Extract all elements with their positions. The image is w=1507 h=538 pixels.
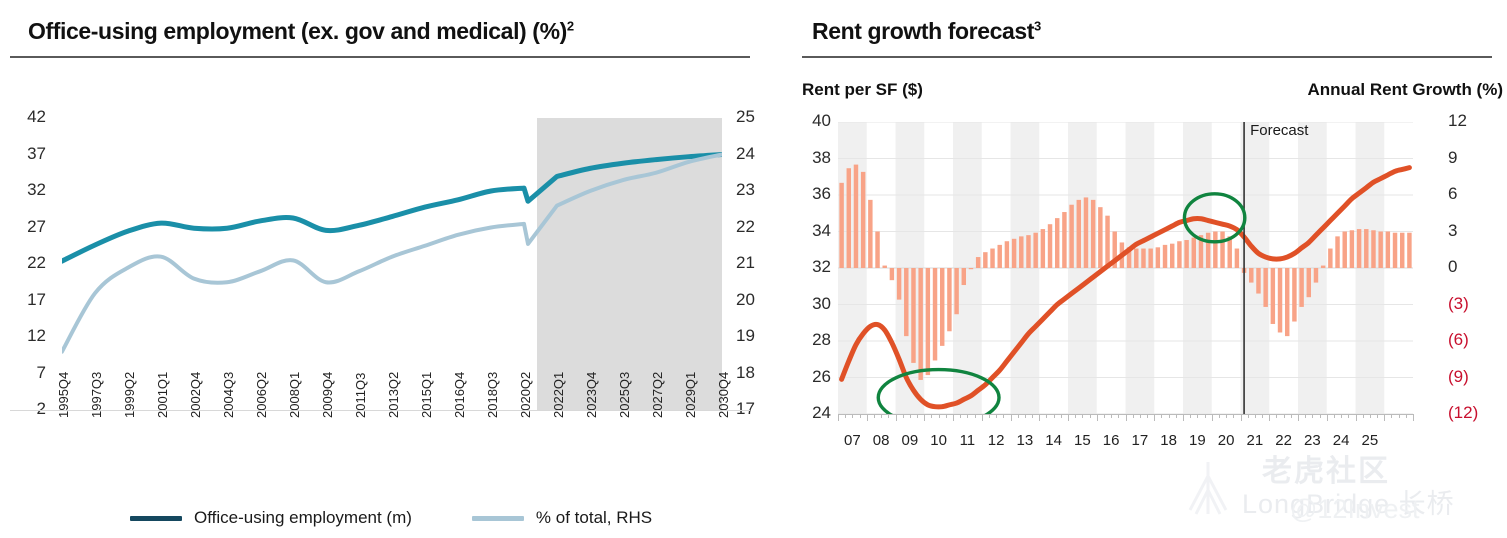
- right-y2-tick: (3): [1448, 294, 1469, 314]
- rent-growth-bar: [976, 257, 980, 268]
- right-chart-axis-tick: [1363, 414, 1364, 418]
- right-chart-axis-tick: [838, 414, 839, 421]
- right-chart-axis-tick: [1054, 414, 1055, 418]
- right-x-tick: 20: [1213, 432, 1239, 449]
- right-chart-axis-tick: [1384, 414, 1385, 421]
- right-x-tick: 10: [926, 432, 952, 449]
- right-chart-axis-tick: [1406, 414, 1407, 418]
- left-y-tick: 7: [0, 363, 46, 383]
- rent-growth-bar: [1342, 232, 1346, 269]
- rent-growth-bar: [1170, 244, 1174, 268]
- left-panel-title: Office-using employment (ex. gov and med…: [28, 18, 574, 45]
- rent-growth-bar: [1371, 230, 1375, 268]
- right-x-tick: 25: [1357, 432, 1383, 449]
- rent-growth-bar: [1041, 229, 1045, 268]
- right-chart-axis-tick: [881, 414, 882, 418]
- left-y2-tick: 19: [736, 326, 755, 346]
- right-chart-axis-tick: [1154, 414, 1155, 421]
- right-chart-axis-tick: [1169, 414, 1170, 418]
- rent-growth-bar: [1105, 216, 1109, 268]
- right-x-tick: 08: [868, 432, 894, 449]
- rent-growth-bar: [1077, 200, 1081, 268]
- office-employment-panel: Office-using employment (ex. gov and med…: [0, 0, 770, 538]
- left-title-divider: [10, 56, 750, 58]
- right-chart-axis-tick: [860, 414, 861, 418]
- right-chart-axis-tick: [845, 414, 846, 418]
- left-y-tick: 17: [0, 290, 46, 310]
- right-chart-axis-tick: [1305, 414, 1306, 418]
- rent-growth-bar: [1350, 230, 1354, 268]
- right-chart-axis-tick: [1219, 414, 1220, 418]
- rent-growth-bar: [897, 268, 901, 300]
- rent-growth-bar: [847, 168, 851, 268]
- right-chart-axis-tick: [1370, 414, 1371, 418]
- rent-growth-bar: [1019, 236, 1023, 268]
- rent-growth-bar: [1033, 233, 1037, 268]
- rent-growth-bar: [983, 252, 987, 268]
- rent-growth-bar: [1407, 233, 1411, 268]
- right-chart-axis-tick: [1291, 414, 1292, 418]
- rent-growth-bar: [933, 268, 937, 360]
- right-chart-axis-tick: [1327, 414, 1328, 421]
- right-chart-axis-tick: [1061, 414, 1062, 418]
- left-y-tick: 37: [0, 144, 46, 164]
- right-chart-axis-tick: [917, 414, 918, 418]
- right-x-tick: 11: [954, 432, 980, 449]
- rent-growth-bar: [854, 165, 858, 268]
- rent-growth-bar: [1235, 249, 1239, 268]
- rent-growth-bar: [1026, 235, 1030, 268]
- rent-growth-bar: [1148, 249, 1152, 268]
- right-chart-right-axis-title: Annual Rent Growth (%): [1308, 80, 1503, 100]
- right-title-divider: [802, 56, 1492, 58]
- rent-growth-bar: [875, 232, 879, 269]
- right-chart-axis-tick: [953, 414, 954, 421]
- rent-growth-bar: [1299, 268, 1303, 307]
- right-y2-tick: 0: [1448, 257, 1457, 277]
- legend-swatch-percent-of-total: [472, 516, 524, 521]
- right-chart-axis-tick: [989, 414, 990, 418]
- right-chart-axis-tick: [1075, 414, 1076, 418]
- right-chart-axis-tick: [1104, 414, 1105, 418]
- right-chart-axis-tick: [1003, 414, 1004, 418]
- legend-item-percent-of-total: % of total, RHS: [472, 508, 652, 528]
- right-chart-axis-tick: [1126, 414, 1127, 421]
- rent-growth-plot: [838, 122, 1413, 414]
- rent-growth-bar: [1220, 232, 1224, 269]
- rent-growth-bar: [1084, 197, 1088, 268]
- right-chart-axis-tick: [1205, 414, 1206, 418]
- series-office-using-employment: [62, 155, 722, 262]
- right-chart-axis-tick: [960, 414, 961, 418]
- right-chart-axis-tick: [1262, 414, 1263, 418]
- right-x-tick: 19: [1184, 432, 1210, 449]
- right-chart-axis-tick: [1161, 414, 1162, 418]
- right-chart-axis-tick: [939, 414, 940, 418]
- right-chart-axis-tick: [867, 414, 868, 421]
- rent-growth-bar: [1184, 240, 1188, 268]
- rent-growth-bar: [969, 268, 973, 269]
- left-y-tick: 42: [0, 107, 46, 127]
- right-chart-axis-tick: [1025, 414, 1026, 418]
- rent-growth-bar: [868, 200, 872, 268]
- rent-growth-bar: [918, 268, 922, 380]
- rent-growth-bar: [1192, 238, 1196, 268]
- left-y2-tick: 22: [736, 217, 755, 237]
- right-x-tick: 12: [983, 432, 1009, 449]
- right-chart-axis-tick: [924, 414, 925, 421]
- rent-growth-bar: [1141, 249, 1145, 268]
- right-chart-axis-tick: [852, 414, 853, 418]
- left-chart-legend: Office-using employment (m) % of total, …: [130, 508, 652, 528]
- right-y-tick: 38: [795, 148, 831, 168]
- right-chart-axis-tick: [1190, 414, 1191, 418]
- right-y2-tick: 12: [1448, 111, 1467, 131]
- right-chart-axis-tick: [1226, 414, 1227, 418]
- left-y2-tick: 20: [736, 290, 755, 310]
- rent-growth-bar: [1156, 247, 1160, 268]
- rent-growth-bar: [1213, 232, 1217, 269]
- rent-growth-bar: [911, 268, 915, 363]
- right-x-tick: 13: [1012, 432, 1038, 449]
- right-y2-tick: (12): [1448, 403, 1478, 423]
- rent-growth-bar: [1256, 268, 1260, 294]
- right-chart-axis-tick: [1011, 414, 1012, 421]
- right-panel-title-footnote: 3: [1034, 18, 1041, 33]
- right-chart-axis-tick: [1341, 414, 1342, 418]
- right-chart-axis-tick: [946, 414, 947, 418]
- right-y-tick: 40: [795, 111, 831, 131]
- right-chart-axis-tick: [1197, 414, 1198, 418]
- rent-growth-bar: [1069, 205, 1073, 268]
- rent-growth-bar: [1357, 229, 1361, 268]
- rent-growth-bar: [1263, 268, 1267, 307]
- left-y2-tick: 24: [736, 144, 755, 164]
- legend-item-office-using-employment: Office-using employment (m): [130, 508, 412, 528]
- right-chart-axis-tick: [1082, 414, 1083, 418]
- right-chart-left-axis-title: Rent per SF ($): [802, 80, 923, 100]
- left-panel-title-footnote: 2: [567, 18, 574, 33]
- right-chart-axis-tick: [1118, 414, 1119, 418]
- rent-growth-bar: [1393, 233, 1397, 268]
- rent-growth-bar: [1249, 268, 1253, 283]
- right-chart-axis-tick: [1046, 414, 1047, 418]
- rent-growth-bar: [1285, 268, 1289, 336]
- rent-growth-bar: [1177, 241, 1181, 268]
- rent-growth-bar: [1134, 249, 1138, 268]
- right-chart-axis-tick: [1348, 414, 1349, 418]
- right-chart-axis-tick: [1039, 414, 1040, 421]
- right-x-tick: 07: [839, 432, 865, 449]
- right-chart-axis-tick: [888, 414, 889, 418]
- right-chart-axis-tick: [1241, 414, 1242, 421]
- rent-growth-bar: [926, 268, 930, 375]
- right-chart-axis-tick: [1276, 414, 1277, 418]
- legend-label-office-using-employment: Office-using employment (m): [194, 508, 412, 528]
- right-x-tick: 15: [1069, 432, 1095, 449]
- rent-growth-bar: [954, 268, 958, 314]
- left-y2-tick: 17: [736, 399, 755, 419]
- right-chart-axis-tick: [1133, 414, 1134, 418]
- right-chart-axis-tick: [1090, 414, 1091, 418]
- rent-growth-bar: [1271, 268, 1275, 324]
- rent-growth-bar: [1307, 268, 1311, 297]
- right-y2-tick: (9): [1448, 367, 1469, 387]
- legend-swatch-office-using-employment: [130, 516, 182, 521]
- right-chart-axis-tick: [1097, 414, 1098, 421]
- left-y-tick: 2: [0, 399, 46, 419]
- rent-growth-bar: [1292, 268, 1296, 322]
- right-chart-axis-tick: [1140, 414, 1141, 418]
- right-chart-axis-tick: [1147, 414, 1148, 418]
- rent-growth-bar: [861, 172, 865, 268]
- right-chart-axis-tick: [1413, 414, 1414, 421]
- rent-growth-bar: [1378, 232, 1382, 269]
- rent-growth-bar: [1012, 239, 1016, 268]
- right-chart-axis-tick: [967, 414, 968, 418]
- rent-growth-bar: [890, 268, 894, 280]
- rent-growth-bar: [1163, 245, 1167, 268]
- right-chart-axis-tick: [1334, 414, 1335, 418]
- right-x-tick: 24: [1328, 432, 1354, 449]
- right-chart-axis-tick: [975, 414, 976, 418]
- rent-growth-bar: [1098, 207, 1102, 268]
- right-chart-axis-tick: [1320, 414, 1321, 418]
- right-x-tick: 21: [1242, 432, 1268, 449]
- rent-growth-bar: [1321, 266, 1325, 268]
- right-x-tick: 14: [1041, 432, 1067, 449]
- right-chart-axis-tick: [1284, 414, 1285, 418]
- left-y2-tick: 18: [736, 363, 755, 383]
- right-y-tick: 28: [795, 330, 831, 350]
- right-x-tick: 16: [1098, 432, 1124, 449]
- right-chart-axis-tick: [1212, 414, 1213, 421]
- forecast-label: Forecast: [1250, 122, 1308, 139]
- right-x-tick: 18: [1156, 432, 1182, 449]
- right-y-tick: 30: [795, 294, 831, 314]
- left-y2-tick: 21: [736, 253, 755, 273]
- right-y-tick: 32: [795, 257, 831, 277]
- right-chart-axis-tick: [982, 414, 983, 421]
- right-x-tick: 17: [1127, 432, 1153, 449]
- rent-growth-bar: [1278, 268, 1282, 332]
- right-panel-title: Rent growth forecast3: [812, 18, 1041, 45]
- rent-growth-bar: [1314, 268, 1318, 283]
- rent-growth-bar: [1335, 236, 1339, 268]
- rent-growth-bar: [990, 249, 994, 268]
- left-y2-tick: 25: [736, 107, 755, 127]
- rent-growth-bar: [1055, 218, 1059, 268]
- right-chart-axis-tick: [1248, 414, 1249, 418]
- rent-growth-bar: [947, 268, 951, 331]
- rent-growth-bar: [839, 183, 843, 268]
- right-chart-axis-tick: [1233, 414, 1234, 418]
- right-chart-axis-tick: [1111, 414, 1112, 418]
- left-panel-title-text: Office-using employment (ex. gov and med…: [28, 18, 567, 44]
- right-x-tick: 22: [1271, 432, 1297, 449]
- right-chart-axis-tick: [1391, 414, 1392, 418]
- rent-growth-bar: [1048, 224, 1052, 268]
- right-x-tick: 09: [897, 432, 923, 449]
- rent-growth-bar: [1206, 233, 1210, 268]
- right-y2-tick: 6: [1448, 184, 1457, 204]
- right-chart-axis-tick: [874, 414, 875, 418]
- right-chart-axis-tick: [910, 414, 911, 418]
- left-y-tick: 27: [0, 217, 46, 237]
- right-chart-axis-tick: [1298, 414, 1299, 421]
- right-chart-axis-tick: [1269, 414, 1270, 421]
- rent-growth-bar: [1328, 249, 1332, 268]
- right-y2-tick: 9: [1448, 148, 1457, 168]
- rent-growth-bar: [1005, 241, 1009, 268]
- right-y2-tick: 3: [1448, 221, 1457, 241]
- right-chart-axis-tick: [903, 414, 904, 418]
- rent-growth-bar: [1400, 233, 1404, 268]
- right-chart-axis-tick: [931, 414, 932, 418]
- right-chart-axis-tick: [1356, 414, 1357, 421]
- right-y-tick: 24: [795, 403, 831, 423]
- right-chart-axis-tick: [1255, 414, 1256, 418]
- right-chart-axis-tick: [996, 414, 997, 418]
- rent-growth-bar: [882, 266, 886, 268]
- right-chart-axis-tick: [896, 414, 897, 421]
- right-chart-axis-tick: [1183, 414, 1184, 421]
- right-chart-axis-tick: [1032, 414, 1033, 418]
- office-employment-plot: [62, 118, 722, 410]
- right-chart-axis-tick: [1312, 414, 1313, 418]
- right-x-tick: 23: [1299, 432, 1325, 449]
- right-chart-axis-tick: [1399, 414, 1400, 418]
- left-y-tick: 22: [0, 253, 46, 273]
- rent-growth-bar: [1062, 212, 1066, 268]
- right-y-tick: 26: [795, 367, 831, 387]
- rent-growth-bar: [1386, 232, 1390, 269]
- rent-growth-bar: [962, 268, 966, 285]
- rent-growth-bar: [997, 245, 1001, 268]
- legend-label-percent-of-total: % of total, RHS: [536, 508, 652, 528]
- right-chart-axis-tick: [1176, 414, 1177, 418]
- rent-growth-bar: [1091, 200, 1095, 268]
- right-chart-axis-tick: [1018, 414, 1019, 418]
- series-percent-of-total: [62, 155, 722, 352]
- left-y-tick: 12: [0, 326, 46, 346]
- right-chart-axis-tick: [1377, 414, 1378, 418]
- right-y-tick: 34: [795, 221, 831, 241]
- rent-growth-bar: [1364, 229, 1368, 268]
- left-y-tick: 32: [0, 180, 46, 200]
- left-chart-baseline: [10, 410, 750, 411]
- right-y-tick: 36: [795, 184, 831, 204]
- rent-growth-bar: [940, 268, 944, 346]
- left-y2-tick: 23: [736, 180, 755, 200]
- right-y2-tick: (6): [1448, 330, 1469, 350]
- rent-growth-bar: [904, 268, 908, 336]
- right-panel-title-text: Rent growth forecast: [812, 18, 1034, 44]
- right-chart-axis-tick: [1068, 414, 1069, 421]
